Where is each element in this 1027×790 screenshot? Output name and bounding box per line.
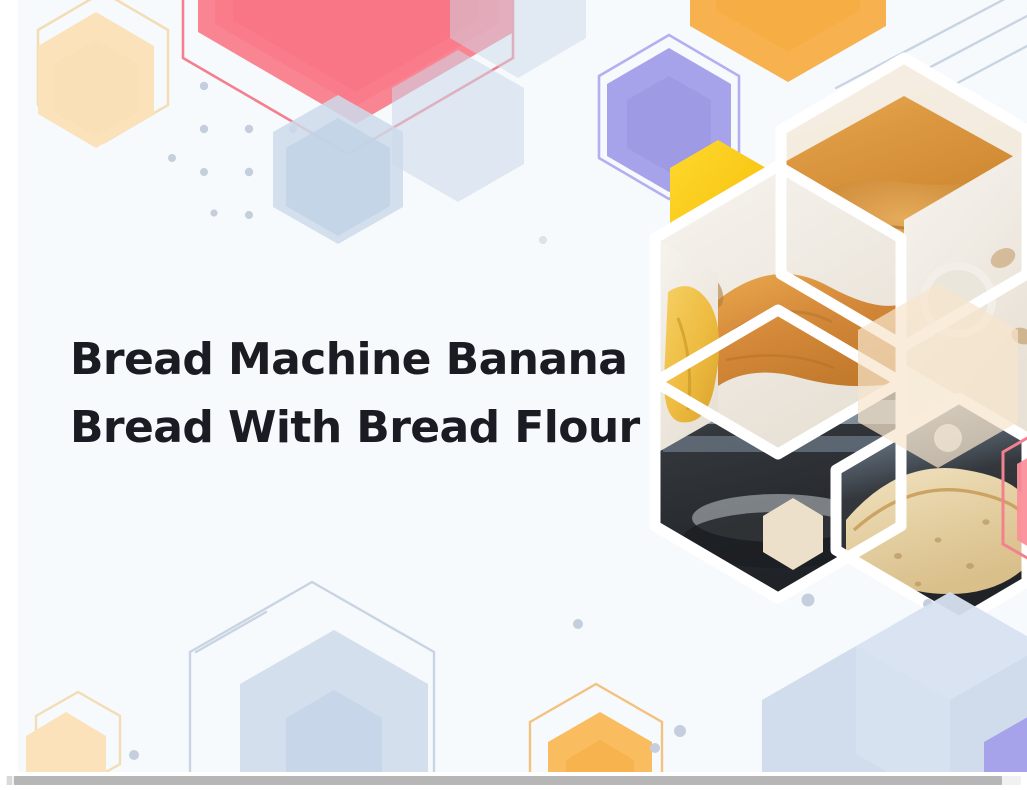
dot-bottomleft [129,750,139,760]
scrollbar-left-cap[interactable] [7,776,12,785]
screenshot-root: Bread Machine Banana Bread With Bread Fl… [0,0,1027,790]
hero-graphic [18,0,1027,772]
horizontal-scrollbar[interactable] [0,772,1027,790]
scrollbar-thumb[interactable] [14,776,1002,785]
hero-banner: Bread Machine Banana Bread With Bread Fl… [18,0,1027,772]
